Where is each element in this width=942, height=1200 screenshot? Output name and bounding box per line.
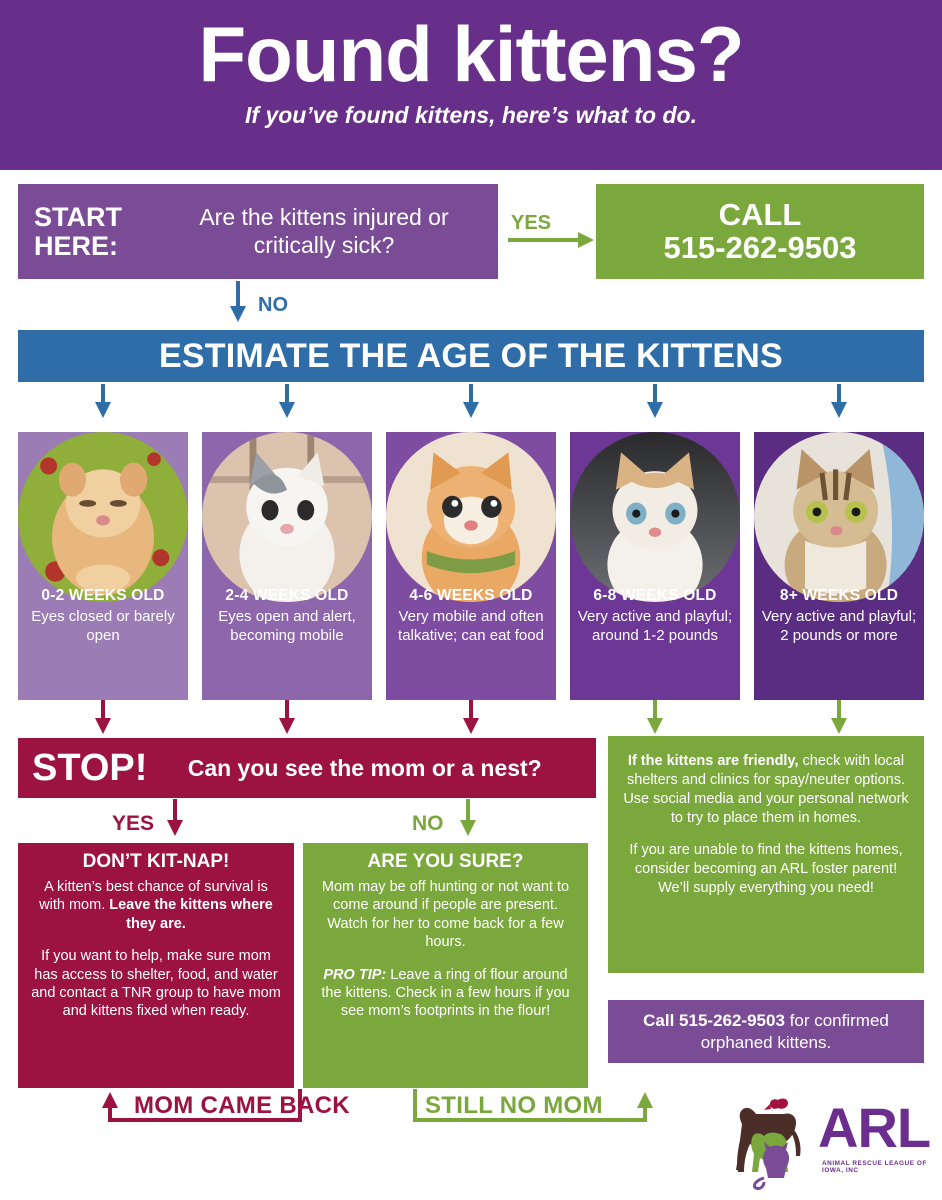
age-card-description: Eyes open and alert, becoming mobile [208,608,366,646]
arl-tagline: ANIMAL RESCUE LEAGUE OF IOWA, INC [822,1160,931,1174]
infographic-page: Found kittens? If you’ve found kittens, … [0,0,942,1200]
page-title: Found kittens? [0,0,942,96]
age-card-description: Very active and playful; 2 pounds or mor… [760,608,918,646]
age-card-1: 0-2 WEEKS OLDEyes closed or barely open [18,432,188,700]
age-card-title: 6-8 WEEKS OLD [576,587,734,605]
no-arrow-icon [230,281,246,322]
cat-silhouette [763,1142,789,1178]
age-cards-row: 0-2 WEEKS OLDEyes closed or barely open … [18,432,924,700]
dont-kitnap-para2: If you want to help, make sure mom has a… [30,947,282,1021]
stop-question: Can you see the mom or a nest? [147,755,596,782]
age-card-4: 6-8 WEEKS OLDVery active and playful; ar… [570,432,740,700]
friendly-para1-bold: If the kittens are friendly, [628,753,799,769]
kitten-photo-5 [754,432,924,602]
estimate-age-title: ESTIMATE THE AGE OF THE KITTENS [159,337,783,376]
start-here-label: START HERE: [18,203,158,260]
are-you-sure-para1: Mom may be off hunting or not want to co… [315,878,576,952]
still-no-mom-label: STILL NO MOM [425,1092,603,1120]
stop-yes-arrow-icon [167,799,183,836]
page-subtitle: If you’ve found kittens, here’s what to … [0,102,942,129]
kitnap-para1-bold: Leave the kittens where they are. [109,897,273,931]
dont-kitnap-box: DON’T KIT-NAP! A kitten’s best chance of… [18,843,294,1088]
protip-label: PRO TIP: [323,967,386,983]
orphaned-kittens-call-panel: Call 515-262-9503 for confirmed orphaned… [608,1000,924,1063]
mom-came-back-label: MOM CAME BACK [134,1092,350,1120]
kitten-photo-2 [202,432,372,602]
stop-word: STOP! [18,747,147,790]
age-card-description: Very mobile and often talkative; can eat… [392,608,550,646]
call-word: CALL [719,199,802,232]
age-card-2: 2-4 WEEKS OLDEyes open and alert, becomi… [202,432,372,700]
dont-kitnap-para1: A kitten’s best chance of survival is wi… [30,878,282,933]
orphaned-call-number: Call 515-262-9503 [643,1011,785,1030]
call-emergency-box: CALL 515-262-9503 [596,184,924,279]
age-card-5: 8+ WEEKS OLDVery active and playful; 2 p… [754,432,924,700]
start-here-box: START HERE: Are the kittens injured or c… [18,184,498,279]
friendly-para1: If the kittens are friendly, check with … [622,752,910,827]
friendly-para2: If you are unable to find the kittens ho… [622,841,910,898]
age-card-title: 2-4 WEEKS OLD [208,587,366,605]
estimate-age-bar: ESTIMATE THE AGE OF THE KITTENS [18,330,924,382]
bird-silhouette [770,1099,788,1109]
are-you-sure-box: ARE YOU SURE? Mom may be off hunting or … [303,843,588,1088]
age-card-3: 4-6 WEEKS OLDVery mobile and often talka… [386,432,556,700]
orphaned-call-text: Call 515-262-9503 for confirmed orphaned… [618,1010,914,1053]
start-here-question: Are the kittens injured or critically si… [158,204,498,258]
header-banner: Found kittens? If you’ve found kittens, … [0,0,942,170]
kitten-photo-4 [570,432,740,602]
age-card-title: 8+ WEEKS OLD [760,587,918,605]
arl-animals-icon [726,1092,826,1192]
arl-logo: ARL ANIMAL RESCUE LEAGUE OF IOWA, INC [726,1092,931,1192]
cat-tail [754,1178,764,1189]
are-you-sure-protip: PRO TIP: Leave a ring of flour around th… [315,966,576,1021]
stop-no-arrow-icon [460,799,476,836]
stop-yes-label: YES [112,812,154,836]
stop-bar: STOP! Can you see the mom or a nest? [18,738,596,798]
yes-branch-label: YES [511,212,551,235]
friendly-kittens-panel: If the kittens are friendly, check with … [608,736,924,973]
no-branch-label: NO [258,294,288,317]
stop-no-label: NO [412,812,444,836]
kitten-photo-3 [386,432,556,602]
are-you-sure-heading: ARE YOU SURE? [315,851,576,873]
kitten-photo-1 [18,432,188,602]
call-phone-number: 515-262-9503 [663,232,856,265]
age-card-title: 0-2 WEEKS OLD [24,587,182,605]
dont-kitnap-heading: DON’T KIT-NAP! [30,851,282,873]
arl-wordmark: ARL [818,1100,930,1156]
age-card-description: Eyes closed or barely open [24,608,182,646]
age-card-description: Very active and playful; around 1-2 poun… [576,608,734,646]
age-card-title: 4-6 WEEKS OLD [392,587,550,605]
